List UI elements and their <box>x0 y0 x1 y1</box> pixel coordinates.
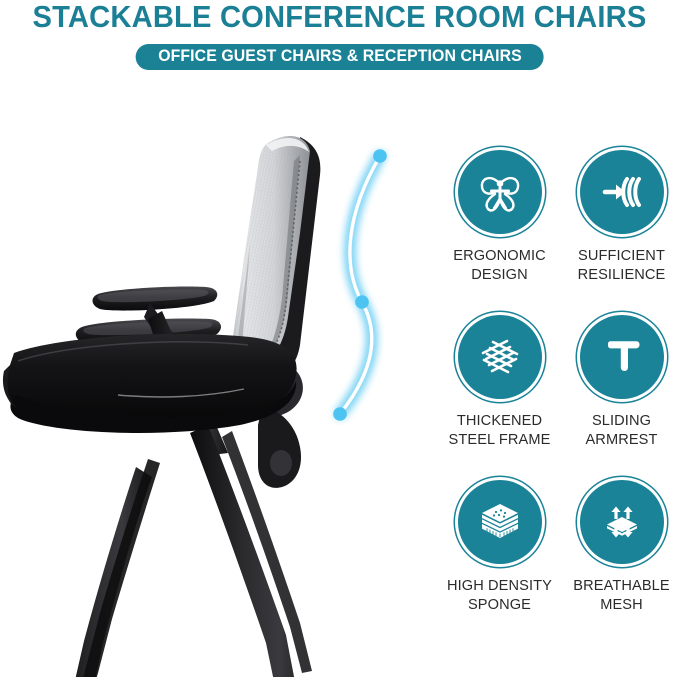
feature-label: BREATHABLE MESH <box>562 577 679 614</box>
chair-armrest-upper <box>93 286 218 310</box>
spine-dot-bottom <box>333 407 347 421</box>
spine-dot-top <box>373 149 387 163</box>
feature-grid: ERGONOMIC DESIGN SUFFICIENT RESILIENCE <box>440 150 679 650</box>
feature-item-breathable-mesh: BREATHABLE MESH <box>562 480 679 614</box>
ergonomic-spine-curve <box>320 140 410 430</box>
feature-item-ergonomic-design: ERGONOMIC DESIGN <box>440 150 559 284</box>
spine-dot-middle <box>355 295 369 309</box>
feature-item-sufficient-resilience: SUFFICIENT RESILIENCE <box>562 150 679 284</box>
page-title: STACKABLE CONFERENCE ROOM CHAIRS <box>15 0 663 34</box>
steel-frame-lattice-icon <box>458 315 542 399</box>
feature-label: ERGONOMIC DESIGN <box>440 247 559 284</box>
feature-label: SLIDING ARMREST <box>562 412 679 449</box>
feature-item-thickened-steel-frame: THICKENED STEEL FRAME <box>440 315 559 449</box>
feature-item-sliding-armrest: SLIDING ARMREST <box>562 315 679 449</box>
header-banner: STACKABLE CONFERENCE ROOM CHAIRS OFFICE … <box>0 0 679 92</box>
backrest-lower-shell <box>258 407 301 488</box>
subtitle-badge-label: OFFICE GUEST CHAIRS & RECEPTION CHAIRS <box>158 47 522 66</box>
feature-item-high-density-sponge: HIGH DENSITY SPONGE <box>440 480 559 614</box>
product-photo <box>0 95 440 677</box>
feature-label: SUFFICIENT RESILIENCE <box>562 247 679 284</box>
subtitle-badge: OFFICE GUEST CHAIRS & RECEPTION CHAIRS <box>135 44 544 70</box>
feature-label: HIGH DENSITY SPONGE <box>440 577 559 614</box>
ergonomic-person-icon <box>458 150 542 234</box>
feature-label: THICKENED STEEL FRAME <box>440 412 559 449</box>
chair-seat <box>3 334 297 433</box>
sliding-armrest-ibeam-icon <box>580 315 664 399</box>
high-density-sponge-icon <box>458 480 542 564</box>
resilience-arrow-icon <box>580 150 664 234</box>
breathable-mesh-icon <box>580 480 664 564</box>
